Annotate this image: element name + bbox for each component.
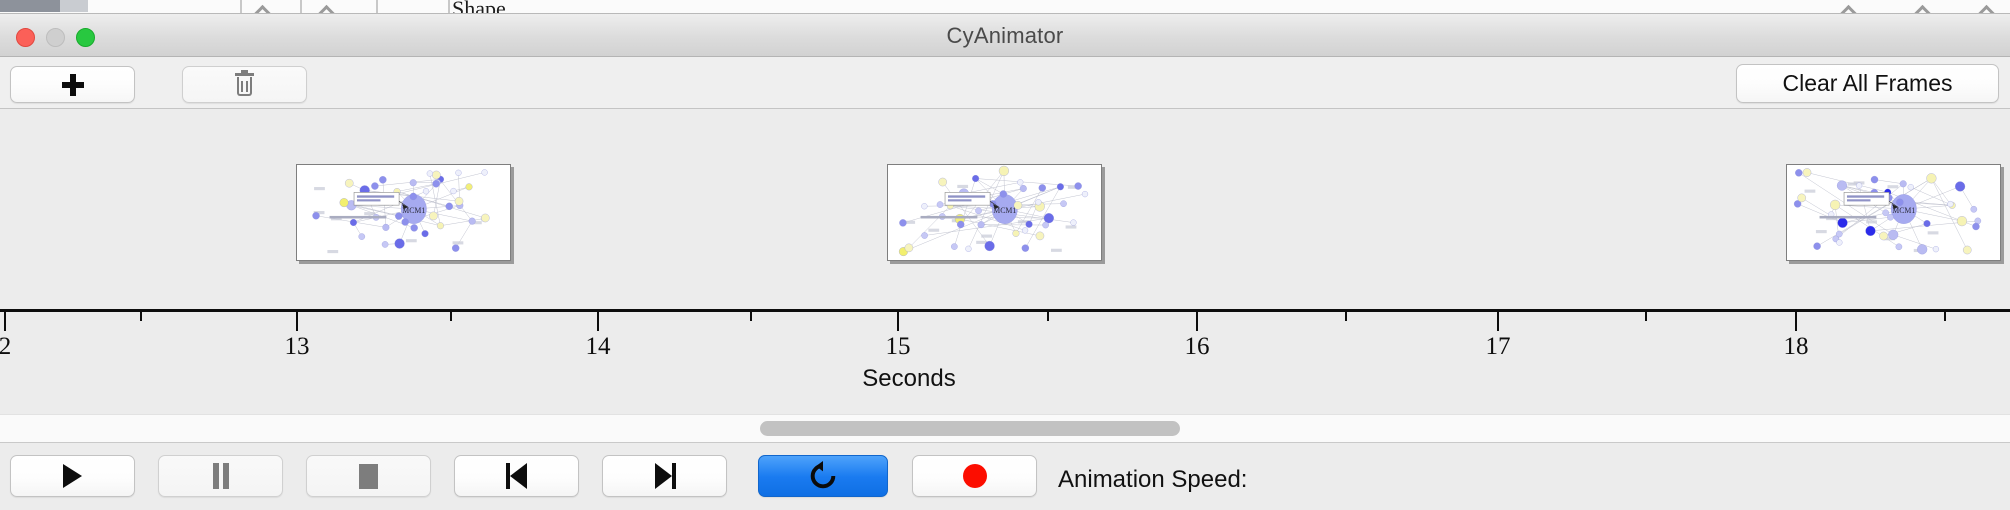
svg-text:MCM1: MCM1 xyxy=(993,206,1016,215)
add-frame-button[interactable] xyxy=(10,66,135,103)
frame-thumbnail[interactable]: MCM1 xyxy=(296,164,511,261)
play-icon xyxy=(63,464,82,488)
skip-to-end-icon xyxy=(654,463,676,489)
timeline-tick xyxy=(140,309,142,321)
pause-icon xyxy=(212,463,230,489)
stop-icon xyxy=(359,464,378,489)
skip-to-start-icon xyxy=(506,463,528,489)
loop-icon xyxy=(808,461,838,491)
timeline-tick xyxy=(296,309,298,331)
timeline-tick xyxy=(1345,309,1347,321)
traffic-lights xyxy=(16,28,95,47)
close-button[interactable] xyxy=(16,28,35,47)
frame-thumbnail[interactable]: MCM1 xyxy=(1786,164,2001,261)
timeline-tick xyxy=(450,309,452,321)
timeline-tick-label: 13 xyxy=(285,333,310,361)
page-title: CyAnimator xyxy=(0,14,2010,57)
maximize-button[interactable] xyxy=(76,28,95,47)
stop-button[interactable] xyxy=(306,455,431,497)
timeline-axis-line xyxy=(0,309,2010,312)
frame-thumbnail[interactable]: MCM1 xyxy=(887,164,1102,261)
clear-all-frames-label: Clear All Frames xyxy=(1783,70,1953,97)
playback-controls: Animation Speed: xyxy=(0,444,2010,510)
minimize-button[interactable] xyxy=(46,28,65,47)
play-button[interactable] xyxy=(10,455,135,497)
record-icon xyxy=(963,464,987,488)
timeline-tick xyxy=(1497,309,1499,331)
toolbar: Clear All Frames xyxy=(0,57,2010,109)
timeline-tick-label: 17 xyxy=(1486,333,1511,361)
timeline-tick-label: 16 xyxy=(1185,333,1210,361)
pause-button[interactable] xyxy=(158,455,283,497)
timeline-tick xyxy=(1944,309,1946,321)
title-bar: CyAnimator xyxy=(0,14,2010,57)
svg-text:MCM1: MCM1 xyxy=(1892,206,1915,215)
cyanimator-window: Shape CyAnimator Clear All Frames MCM1MC… xyxy=(0,0,2010,510)
timeline-tick-label: 2 xyxy=(0,333,11,361)
timeline-tick-label: 14 xyxy=(586,333,611,361)
animation-speed-label: Animation Speed: xyxy=(1058,466,1247,494)
timeline-tick xyxy=(1047,309,1049,321)
background-window-strip: Shape xyxy=(0,0,2010,14)
timeline-panel[interactable]: MCM1MCM1MCM1 2131415161718 Seconds xyxy=(0,109,2010,414)
timeline-scrollbar-thumb[interactable] xyxy=(760,421,1180,436)
clear-all-frames-button[interactable]: Clear All Frames xyxy=(1736,64,1999,103)
background-window-label: Shape xyxy=(452,0,506,14)
timeline-tick xyxy=(1196,309,1198,331)
timeline-tick-label: 18 xyxy=(1784,333,1809,361)
trash-icon xyxy=(235,73,254,97)
timeline-tick xyxy=(897,309,899,331)
timeline-tick xyxy=(597,309,599,331)
axis-title: Seconds xyxy=(0,365,1818,393)
timeline-tick xyxy=(1645,309,1647,321)
skip-to-start-button[interactable] xyxy=(454,455,579,497)
timeline-tick xyxy=(1795,309,1797,331)
timeline-tick xyxy=(750,309,752,321)
timeline-scrollbar[interactable] xyxy=(0,414,2010,443)
skip-to-end-button[interactable] xyxy=(602,455,727,497)
timeline-tick-label: 15 xyxy=(886,333,911,361)
record-button[interactable] xyxy=(912,455,1037,497)
plus-icon xyxy=(62,74,84,96)
timeline-tick xyxy=(4,309,6,331)
delete-frame-button[interactable] xyxy=(182,66,307,103)
loop-button[interactable] xyxy=(758,455,888,497)
svg-text:MCM1: MCM1 xyxy=(402,206,425,215)
